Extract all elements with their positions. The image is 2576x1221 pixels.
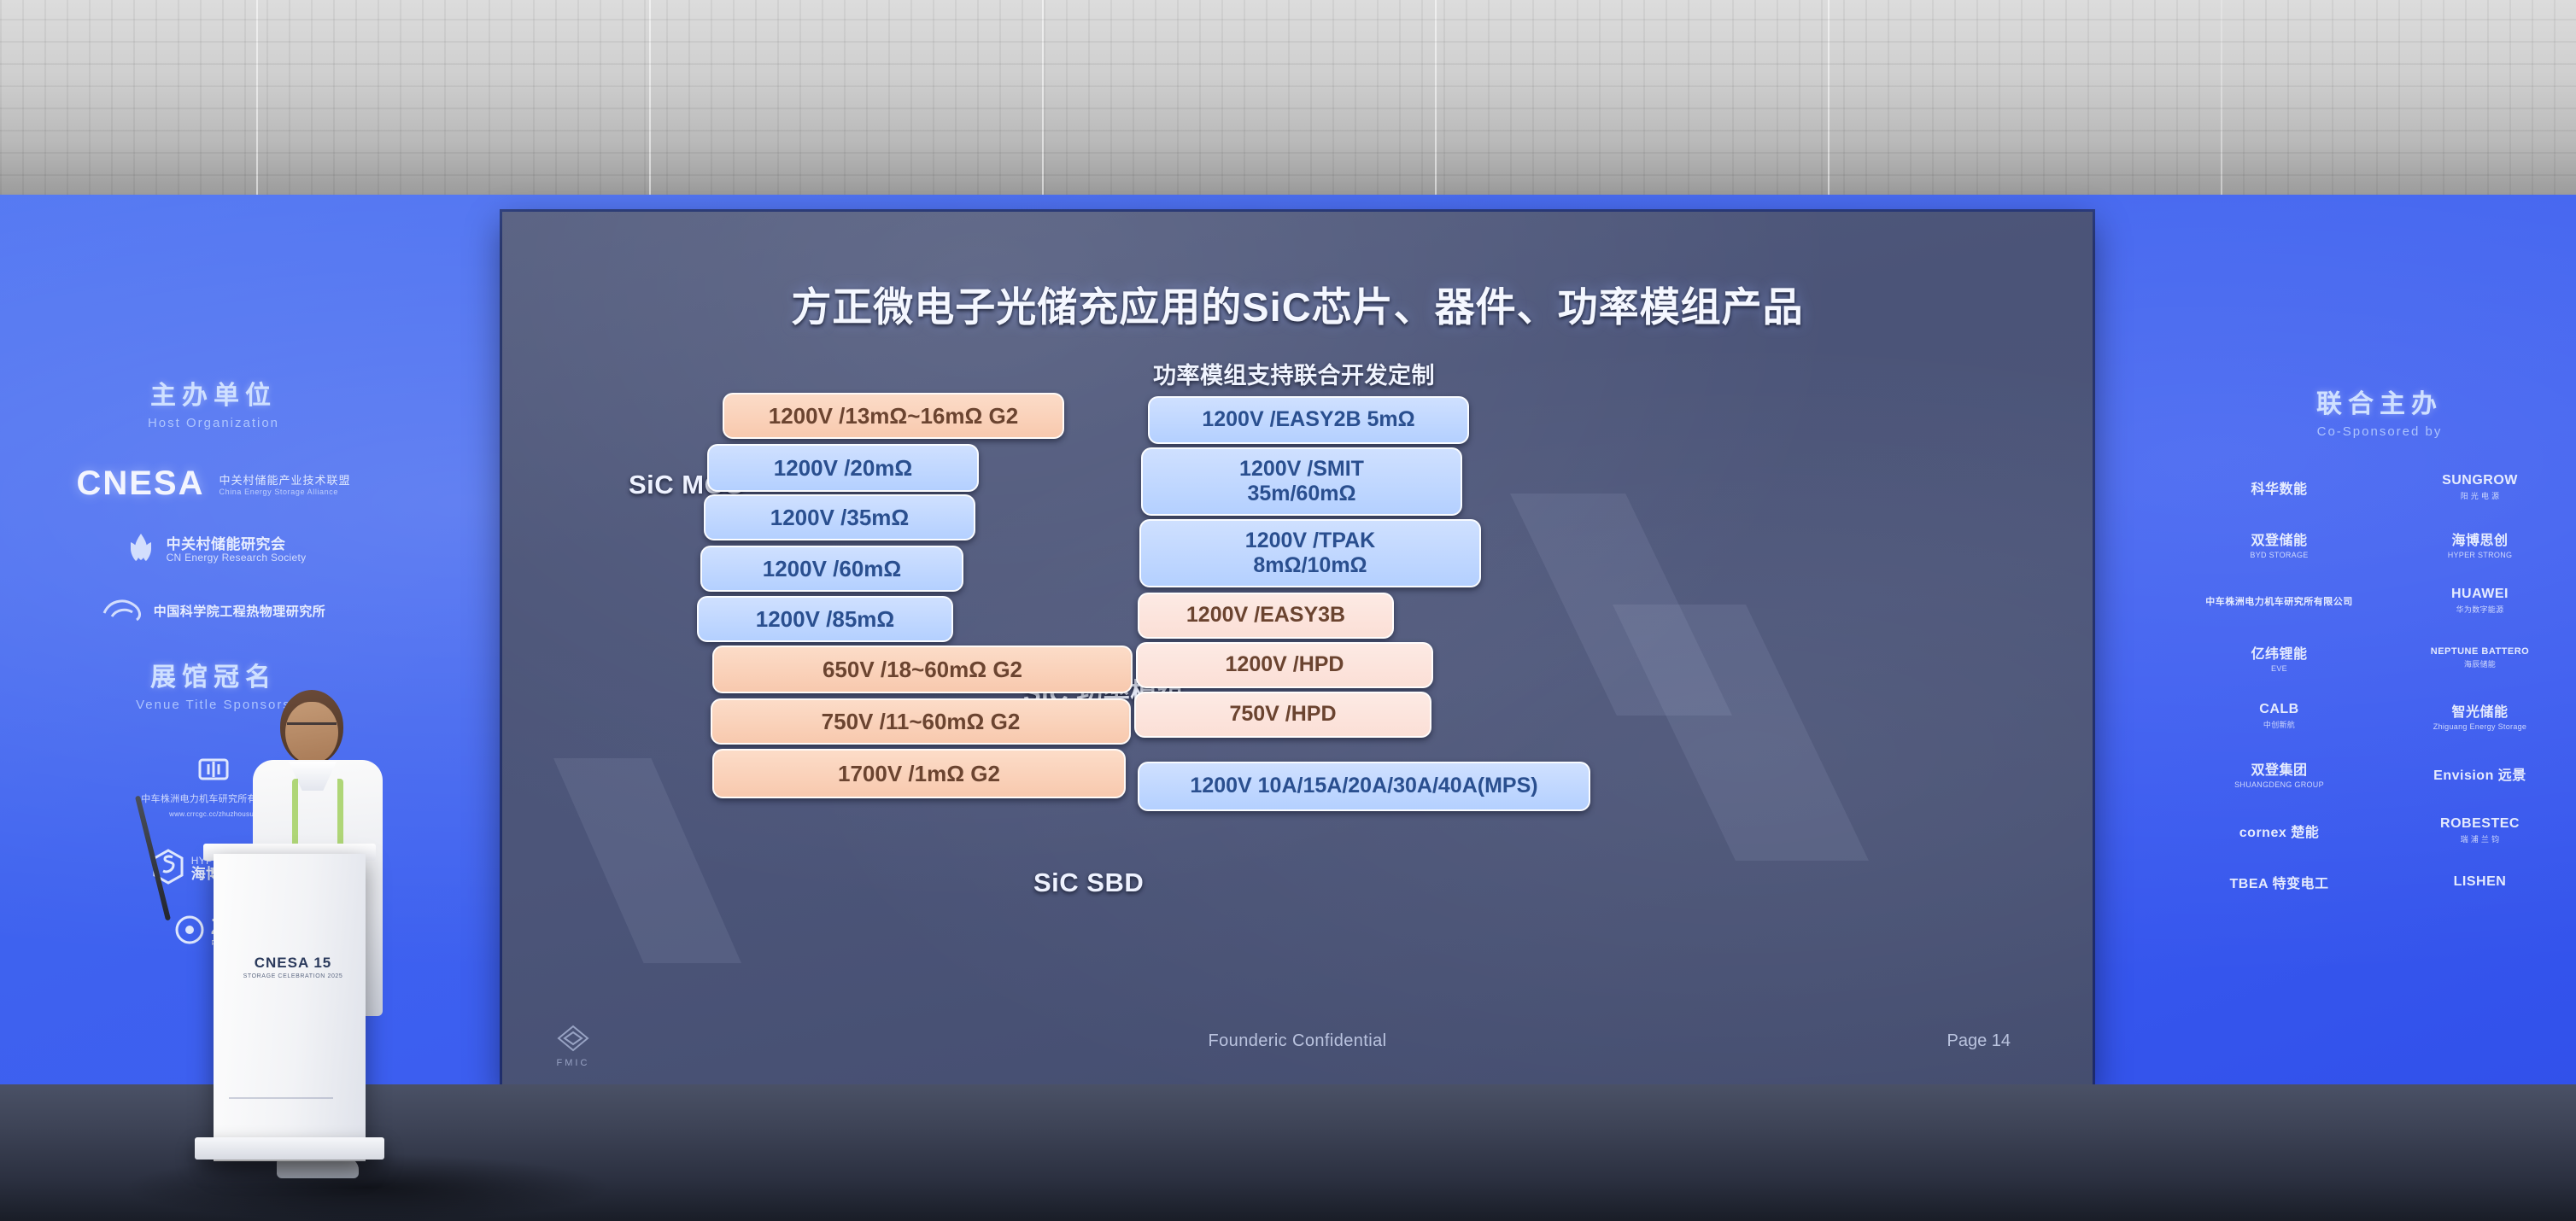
cosponsor-logo-7-text: NEPTUNE BATTERO — [2431, 646, 2529, 657]
pill-module-2: 1200V /TPAK8mΩ/10mΩ — [1139, 519, 1481, 587]
subhead-module-custom: 功率模组支持联合开发定制 — [1153, 357, 1435, 390]
conference-stage-scene: 主办单位 Host Organization CNESA 中关村储能产业技术联盟… — [0, 0, 2576, 1221]
podium — [214, 854, 366, 1161]
cosponsor-logo-3-sub: HYPER STRONG — [2448, 551, 2513, 559]
cosponsor-logo-2-text: 双登储能 — [2251, 529, 2307, 549]
host-organization-title-cn: 主办单位 — [34, 374, 393, 412]
cosponsor-logo-0-text: 科华数能 — [2251, 477, 2307, 498]
cnesa-label-cn: 中关村储能产业技术联盟 — [220, 471, 351, 488]
pill-mos-5-text: 650V /18~60mΩ G2 — [812, 657, 1033, 683]
co-sponsor-title-en: Co-Sponsored by — [2183, 424, 2576, 439]
cosponsor-logo-10: 双登集团SHUANGDENG GROUP — [2183, 758, 2375, 789]
cosponsor-logo-3: 海博思创HYPER STRONG — [2384, 529, 2576, 559]
cosponsor-logo-9: 智光储能Zhiguang Energy Storage — [2384, 700, 2576, 731]
cosponsor-logo-5: HUAWEI华为数字能源 — [2384, 587, 2576, 615]
cosponsor-logo-15-text: LISHEN — [2454, 874, 2507, 890]
pill-mos-1: 1200V /20mΩ — [707, 444, 979, 492]
pill-module-0-text: 1200V /EASY2B 5mΩ — [1191, 407, 1425, 433]
pill-mos-4: 1200V /85mΩ — [697, 596, 953, 642]
cosponsor-logo-10-sub: SHUANGDENG GROUP — [2234, 780, 2324, 789]
pill-module-4: 1200V /HPD — [1136, 642, 1433, 688]
cosponsor-logo-0: 科华数能 — [2183, 473, 2375, 501]
cosponsor-logo-10-text: 双登集团 — [2251, 758, 2307, 779]
cosponsor-logo-9-text: 智光储能 — [2451, 700, 2508, 721]
pill-module-2-text: 1200V /TPAK8mΩ/10mΩ — [1235, 529, 1385, 579]
cosponsor-logo-4: 中车株洲电力机车研究所有限公司 — [2183, 587, 2375, 615]
host-organization-title-en: Host Organization — [34, 416, 393, 430]
pill-mos-2: 1200V /35mΩ — [704, 494, 975, 540]
pill-mos-0-text: 1200V /13mΩ~16mΩ G2 — [758, 403, 1029, 429]
pill-module-1: 1200V /SMIT35m/60mΩ — [1141, 447, 1462, 516]
pill-module-5-text: 750V /HPD — [1219, 702, 1346, 727]
podium-accent-line — [229, 1097, 333, 1099]
pill-module-3-text: 1200V /EASY3B — [1176, 603, 1355, 628]
podium-logo: CNESA 15 STORAGE CELEBRATION 2025 — [229, 955, 357, 979]
pill-mos-0: 1200V /13mΩ~16mΩ G2 — [723, 393, 1064, 439]
cnesa-wordmark: CNESA — [76, 464, 204, 503]
logo-row-cn-energy-research: 中关村储能研究会 CN Energy Research Society — [34, 529, 393, 572]
cnesa-label-en: China Energy Storage Alliance — [220, 488, 338, 496]
venue-title-cn: 展馆冠名 — [34, 656, 393, 693]
cosponsor-logo-2-sub: BYD STORAGE — [2250, 551, 2308, 559]
pill-module-0: 1200V /EASY2B 5mΩ — [1148, 396, 1469, 444]
pill-mos-5: 650V /18~60mΩ G2 — [712, 646, 1133, 693]
pill-module-4-text: 1200V /HPD — [1215, 652, 1355, 678]
slide-page-number: Page 14 — [1947, 1031, 2011, 1051]
ceiling-panel — [0, 0, 2576, 198]
cosponsor-logo-11: Envision 远景 — [2384, 758, 2576, 789]
cosponsor-logo-3-text: 海博思创 — [2451, 529, 2508, 549]
cosponsor-logo-7-sub: 海辰储能 — [2464, 658, 2496, 669]
cosponsor-logo-5-text: HUAWEI — [2451, 587, 2509, 602]
cosponsor-logo-4-text: 中车株洲电力机车研究所有限公司 — [2205, 594, 2353, 608]
logo-iet-cas: 中国科学院工程热物理研究所 — [102, 594, 326, 628]
host-organization-panel: 主办单位 Host Organization CNESA 中关村储能产业技术联盟… — [34, 374, 393, 628]
cosponsor-logo-14-text: TBEA 特变电工 — [2230, 872, 2329, 892]
ztt-globe-icon — [174, 914, 205, 949]
podium-logo-main: CNESA 15 — [229, 955, 357, 972]
cosponsor-logo-8: CALB中创新航 — [2183, 700, 2375, 731]
cosponsor-logo-1-sub: 阳 光 电 源 — [2461, 490, 2500, 501]
crrc-emblem-icon — [196, 757, 231, 786]
crrc-label-en: www.crrcgc.cc/zhuzhousuo — [169, 810, 258, 818]
cosponsor-logo-6-sub: EVE — [2271, 664, 2287, 673]
pill-mos-1-text: 1200V /20mΩ — [764, 455, 923, 482]
cosponsor-logo-8-sub: 中创新航 — [2263, 719, 2295, 730]
pill-mos-3-text: 1200V /60mΩ — [752, 556, 912, 582]
cosponsor-logo-12-text: cornex 楚能 — [2239, 821, 2319, 841]
slide-confidential-text: Founderic Confidential — [502, 1031, 2093, 1051]
slide-title: 方正微电子光储充应用的SiC芯片、器件、功率模组产品 — [502, 274, 2093, 333]
cosponsor-logo-13: ROBESTEC瑞 浦 兰 钧 — [2384, 816, 2576, 844]
podium-logo-sub: STORAGE CELEBRATION 2025 — [229, 973, 357, 979]
pill-mos-6: 750V /11~60mΩ G2 — [711, 698, 1131, 745]
iet-cas-label-cn: 中国科学院工程热物理研究所 — [154, 602, 326, 620]
cosponsor-logo-2: 双登储能BYD STORAGE — [2183, 529, 2375, 559]
pill-mos-4-text: 1200V /85mΩ — [746, 606, 905, 633]
pill-mos-7-text: 1700V /1mΩ G2 — [828, 761, 1010, 787]
cosponsor-logo-1-text: SUNGROW — [2442, 473, 2518, 488]
cn-energy-research-label-cn: 中关村储能研究会 — [167, 537, 286, 552]
cosponsor-logo-7: NEPTUNE BATTERO海辰储能 — [2384, 642, 2576, 673]
logo-cnesa: CNESA 中关村储能产业技术联盟 China Energy Storage A… — [76, 464, 350, 503]
presentation-slide: 方正微电子光储充应用的SiC芯片、器件、功率模组产品 SiC MOS SiC 功… — [502, 212, 2093, 1090]
pill-mos-3: 1200V /60mΩ — [700, 546, 963, 592]
label-sic-sbd: SiC SBD — [1033, 868, 1144, 898]
cosponsor-logo-9-sub: Zhiguang Energy Storage — [2433, 722, 2526, 731]
logo-cn-energy-research: 中关村储能研究会 CN Energy Research Society — [121, 529, 307, 572]
logo-row-cnesa: CNESA 中关村储能产业技术联盟 China Energy Storage A… — [34, 464, 393, 503]
logo-row-iet-cas: 中国科学院工程热物理研究所 — [34, 594, 393, 628]
cosponsor-logo-8-text: CALB — [2259, 702, 2298, 717]
pill-mos-7: 1700V /1mΩ G2 — [712, 749, 1126, 798]
slide-footer: FMIC Founderic Confidential Page 14 — [502, 1025, 2093, 1071]
cosponsor-logo-13-text: ROBESTEC — [2440, 816, 2520, 832]
lotus-emblem-icon — [121, 529, 161, 572]
pill-mos-2-text: 1200V /35mΩ — [760, 505, 920, 531]
fmic-footer-text: FMIC — [555, 1058, 591, 1068]
cosponsor-logo-11-text: Envision 远景 — [2433, 763, 2526, 784]
speaker-glasses — [287, 722, 337, 735]
pill-sbd-0: 1200V 10A/15A/20A/30A/40A(MPS) — [1138, 762, 1590, 811]
podium-base — [195, 1137, 384, 1160]
cosponsor-logo-14: TBEA 特变电工 — [2183, 872, 2375, 892]
pill-module-1-text: 1200V /SMIT35m/60mΩ — [1229, 457, 1374, 507]
cn-energy-research-label-en: CN Energy Research Society — [167, 552, 307, 564]
pill-mos-6-text: 750V /11~60mΩ G2 — [811, 709, 1031, 735]
co-sponsor-title-cn: 联合主办 — [2183, 383, 2576, 420]
cosponsor-logo-1: SUNGROW阳 光 电 源 — [2384, 473, 2576, 501]
co-sponsor-panel: 联合主办 Co-Sponsored by 科华数能SUNGROW阳 光 电 源双… — [2183, 383, 2576, 892]
pill-module-3: 1200V /EASY3B — [1138, 593, 1394, 639]
cosponsor-logo-6: 亿纬锂能EVE — [2183, 642, 2375, 673]
cosponsor-logo-15: LISHEN — [2384, 872, 2576, 892]
cosponsor-logo-6-text: 亿纬锂能 — [2251, 642, 2307, 663]
pill-sbd-0-text: 1200V 10A/15A/20A/30A/40A(MPS) — [1180, 774, 1548, 799]
cosponsor-logo-5-sub: 华为数字能源 — [2456, 604, 2504, 615]
swirl-emblem-icon — [102, 594, 148, 628]
cosponsor-logo-12: cornex 楚能 — [2183, 816, 2375, 844]
pill-module-5: 750V /HPD — [1134, 692, 1431, 738]
cosponsor-logo-13-sub: 瑞 浦 兰 钧 — [2461, 833, 2500, 844]
co-sponsor-logo-grid: 科华数能SUNGROW阳 光 电 源双登储能BYD STORAGE海博思创HYP… — [2183, 473, 2576, 892]
